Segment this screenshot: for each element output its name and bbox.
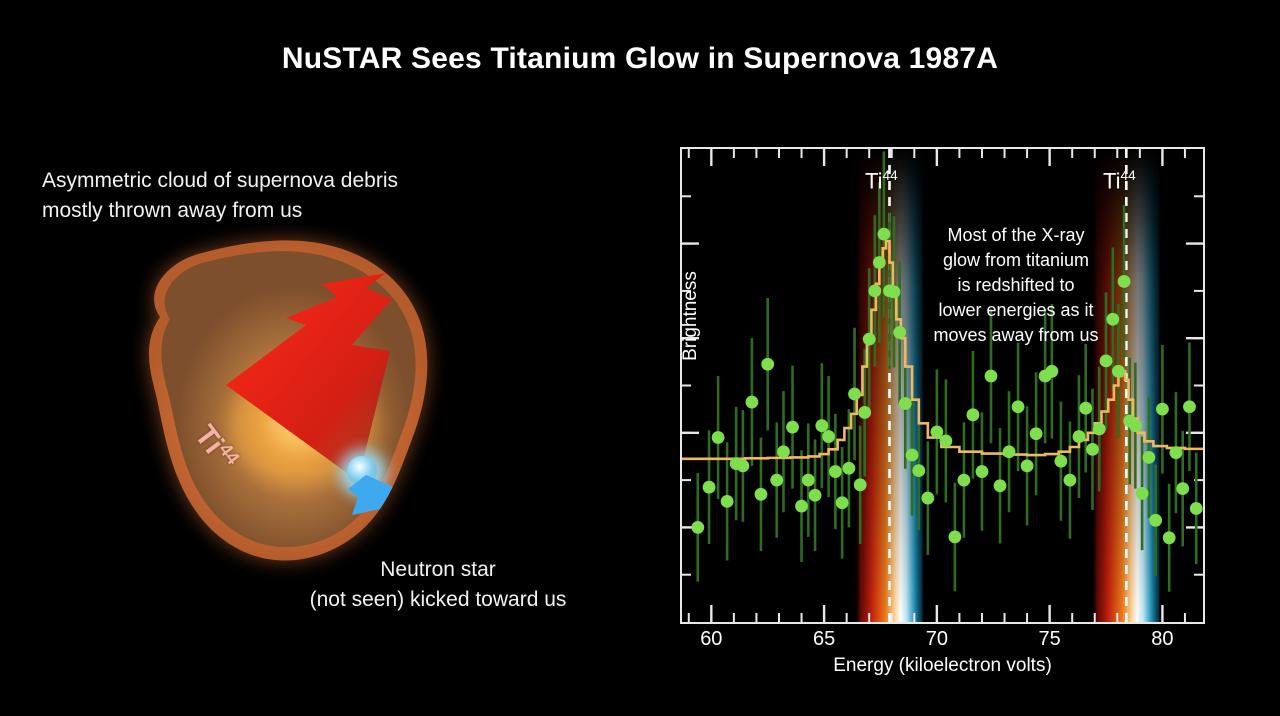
y-axis-label: Brightness xyxy=(680,236,702,396)
x-tick-label-70: 70 xyxy=(926,628,948,651)
ti44-mass-2: 44 xyxy=(1121,168,1136,183)
ti44-element-1: Ti xyxy=(865,168,883,193)
plot-svg xyxy=(682,149,1203,622)
redshift-annotation: Most of the X-ray glow from titanium is … xyxy=(916,223,1116,348)
debris-cloud-graphic xyxy=(90,225,490,585)
debris-cloud-caption: Asymmetric cloud of supernova debris mos… xyxy=(42,166,398,226)
ti44-mass-1: 44 xyxy=(883,168,898,183)
x-tick-label-80: 80 xyxy=(1151,628,1173,651)
ti44-element-2: Ti xyxy=(1103,168,1121,193)
x-tick-label-75: 75 xyxy=(1039,628,1061,651)
supernova-illustration-panel: Asymmetric cloud of supernova debris mos… xyxy=(0,130,640,650)
x-tick-label-65: 65 xyxy=(813,628,835,651)
spectrum-chart: Ti44 Ti44 Most of the X-ray glow from ti… xyxy=(620,130,1280,700)
ti44-rest-label-1: Ti44 xyxy=(865,168,898,194)
x-axis-label: Energy (kiloelectron volts) xyxy=(680,655,1205,677)
x-tick-label-60: 60 xyxy=(700,628,722,651)
neutron-star-caption: Neutron star (not seen) kicked toward us xyxy=(278,555,598,615)
ti44-rest-label-2: Ti44 xyxy=(1103,168,1136,194)
infographic-root: NuSTAR Sees Titanium Glow in Supernova 1… xyxy=(0,0,1280,716)
page-title: NuSTAR Sees Titanium Glow in Supernova 1… xyxy=(0,42,1280,76)
plot-area xyxy=(680,147,1205,624)
